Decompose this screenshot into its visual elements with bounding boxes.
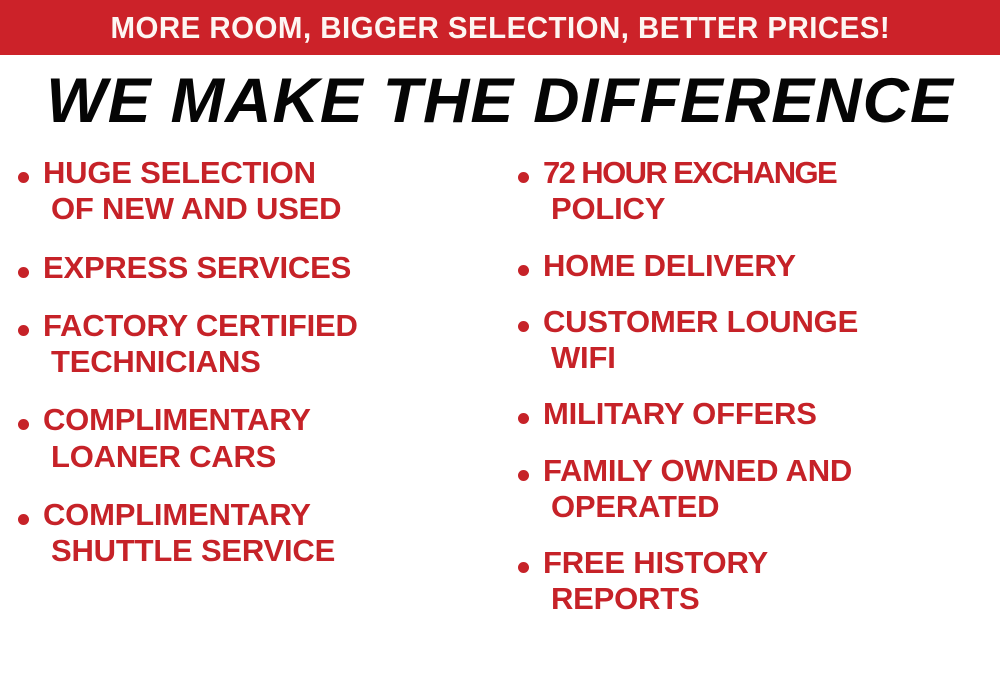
feature-line-1: FREE HISTORY <box>543 545 768 580</box>
feature-line-2: OPERATED <box>543 489 852 525</box>
bullet-dot-icon <box>18 267 29 278</box>
feature-line-2: OF NEW AND USED <box>43 191 341 227</box>
feature-line-2: WIFI <box>543 340 858 376</box>
bullet-dot-icon <box>518 265 529 276</box>
list-item: CUSTOMER LOUNGE WIFI <box>518 304 1000 377</box>
feature-line-1: FAMILY OWNED AND <box>543 453 852 488</box>
list-item: FREE HISTORY REPORTS <box>518 545 1000 618</box>
feature-line-1: 72 HOUR EXCHANGE <box>543 155 836 190</box>
bullet-dot-icon <box>518 562 529 573</box>
list-item: FACTORY CERTIFIED TECHNICIANS <box>18 308 500 381</box>
feature-text: FACTORY CERTIFIED TECHNICIANS <box>43 308 358 381</box>
feature-text: CUSTOMER LOUNGE WIFI <box>543 304 858 377</box>
bullet-dot-icon <box>18 172 29 183</box>
bullet-dot-icon <box>518 413 529 424</box>
feature-text: FAMILY OWNED AND OPERATED <box>543 453 852 526</box>
feature-line-1: HUGE SELECTION <box>43 155 316 190</box>
bullet-dot-icon <box>518 172 529 183</box>
bullet-dot-icon <box>518 470 529 481</box>
feature-line-1: FACTORY CERTIFIED <box>43 308 358 343</box>
headline-container: WE MAKE THE DIFFERENCE <box>0 55 1000 147</box>
list-item: COMPLIMENTARY LOANER CARS <box>18 402 500 475</box>
promo-banner-text: MORE ROOM, BIGGER SELECTION, BETTER PRIC… <box>110 12 890 43</box>
list-item: 72 HOUR EXCHANGE POLICY <box>518 155 1000 228</box>
feature-line-2: LOANER CARS <box>43 439 311 475</box>
features-columns: HUGE SELECTION OF NEW AND USED EXPRESS S… <box>0 147 1000 694</box>
list-item: MILITARY OFFERS <box>518 396 1000 432</box>
bullet-dot-icon <box>18 325 29 336</box>
page-title: WE MAKE THE DIFFERENCE <box>46 70 954 133</box>
feature-line-1: EXPRESS SERVICES <box>43 250 351 285</box>
feature-text: MILITARY OFFERS <box>543 396 817 432</box>
feature-line-2: REPORTS <box>543 581 768 617</box>
promo-banner: MORE ROOM, BIGGER SELECTION, BETTER PRIC… <box>0 0 1000 55</box>
bullet-dot-icon <box>18 419 29 430</box>
feature-line-1: HOME DELIVERY <box>543 248 796 283</box>
bullet-dot-icon <box>18 514 29 525</box>
features-column-left: HUGE SELECTION OF NEW AND USED EXPRESS S… <box>0 147 500 694</box>
feature-text: COMPLIMENTARY LOANER CARS <box>43 402 311 475</box>
list-item: HUGE SELECTION OF NEW AND USED <box>18 155 500 228</box>
feature-text: COMPLIMENTARY SHUTTLE SERVICE <box>43 497 335 570</box>
bullet-dot-icon <box>518 321 529 332</box>
features-column-right: 72 HOUR EXCHANGE POLICY HOME DELIVERY CU… <box>500 147 1000 694</box>
list-item: FAMILY OWNED AND OPERATED <box>518 453 1000 526</box>
feature-line-1: MILITARY OFFERS <box>543 396 817 431</box>
feature-line-1: COMPLIMENTARY <box>43 402 311 437</box>
feature-line-1: COMPLIMENTARY <box>43 497 311 532</box>
list-item: COMPLIMENTARY SHUTTLE SERVICE <box>18 497 500 570</box>
feature-line-1: CUSTOMER LOUNGE <box>543 304 858 339</box>
feature-text: EXPRESS SERVICES <box>43 250 351 286</box>
feature-text: FREE HISTORY REPORTS <box>543 545 768 618</box>
list-item: EXPRESS SERVICES <box>18 250 500 286</box>
feature-text: HOME DELIVERY <box>543 248 796 284</box>
feature-text: HUGE SELECTION OF NEW AND USED <box>43 155 341 228</box>
feature-line-2: TECHNICIANS <box>43 344 358 380</box>
feature-line-2: SHUTTLE SERVICE <box>43 533 335 569</box>
feature-line-2: POLICY <box>543 191 836 227</box>
feature-text: 72 HOUR EXCHANGE POLICY <box>543 155 836 228</box>
list-item: HOME DELIVERY <box>518 248 1000 284</box>
